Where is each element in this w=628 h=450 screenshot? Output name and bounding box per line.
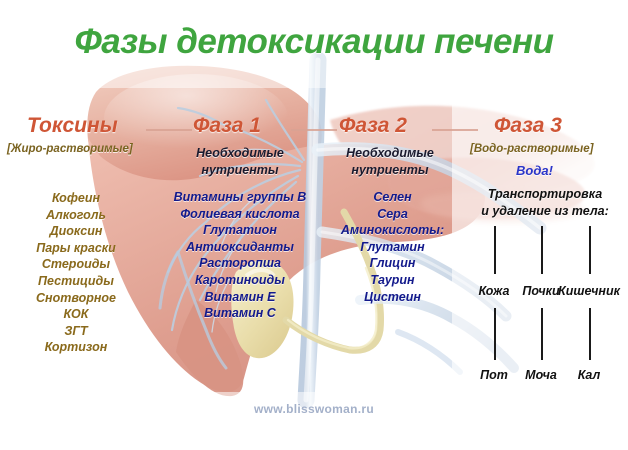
header-connector-2 <box>291 129 337 131</box>
list-item: Стероиды <box>0 256 152 273</box>
list-item: ЗГТ <box>0 323 152 340</box>
list-item: Глицин <box>325 255 460 272</box>
list-item: Глутатион <box>155 222 325 239</box>
phase3-intro-line1: Транспортировка <box>462 186 628 203</box>
organ-intestine: Кишечник <box>553 284 625 298</box>
column-header-phase1: Фаза 1 <box>193 114 261 138</box>
excreta-sweat: Пот <box>468 368 520 382</box>
phase3-intro-line2: и удаление из тела: <box>462 203 628 220</box>
list-item: КОК <box>0 306 152 323</box>
list-item: Аминокислоты: <box>325 222 460 239</box>
phase2-subhead: Необходимые нутриенты <box>320 145 460 179</box>
column-header-toxins: Токсины <box>27 114 118 138</box>
list-item: Витамин С <box>155 305 325 322</box>
column-header-phase3: Фаза 3 <box>494 114 562 138</box>
list-item: Фолиевая кислота <box>155 206 325 223</box>
phase1-list: Витамины группы В Фолиевая кислота Глута… <box>155 189 325 322</box>
flow-line-kidney-upper <box>541 226 543 274</box>
header-connector-3 <box>432 129 478 131</box>
phase1-subhead: Необходимые нутриенты <box>160 145 320 179</box>
toxins-list: Кофеин Алкоголь Диоксин Пары краски Стер… <box>0 190 152 356</box>
flow-line-urine-lower <box>541 308 543 360</box>
flow-line-sweat-lower <box>494 308 496 360</box>
watermark: www.blisswoman.ru <box>0 402 628 416</box>
list-item: Каротиноиды <box>155 272 325 289</box>
excreta-urine: Моча <box>514 368 568 382</box>
phase3-subtitle: [Водо-растворимые] <box>470 143 593 155</box>
flow-line-skin-upper <box>494 226 496 274</box>
infographic-canvas: Фазы детоксикации печени Токсины [Жиро-р… <box>0 0 628 450</box>
flow-line-intestine-upper <box>589 226 591 274</box>
column-header-phase2: Фаза 2 <box>339 114 407 138</box>
page-title: Фазы детоксикации печени <box>0 22 628 62</box>
excreta-feces: Кал <box>563 368 615 382</box>
toxins-subtitle: [Жиро-растворимые] <box>7 143 133 155</box>
list-item: Витамины группы В <box>155 189 325 206</box>
phase1-subhead-line2: нутриенты <box>160 162 320 179</box>
list-item: Глутамин <box>325 239 460 256</box>
phase2-subhead-line2: нутриенты <box>320 162 460 179</box>
list-item: Селен <box>325 189 460 206</box>
list-item: Алкоголь <box>0 207 152 224</box>
phase1-subhead-line1: Необходимые <box>160 145 320 162</box>
phase2-list: Селен Сера Аминокислоты: Глутамин Глицин… <box>325 189 460 305</box>
list-item: Кортизон <box>0 339 152 356</box>
list-item: Таурин <box>325 272 460 289</box>
list-item: Кофеин <box>0 190 152 207</box>
flow-line-feces-lower <box>589 308 591 360</box>
list-item: Пары краски <box>0 240 152 257</box>
list-item: Диоксин <box>0 223 152 240</box>
list-item: Сера <box>325 206 460 223</box>
header-connector-1 <box>146 129 192 131</box>
list-item: Пестициды <box>0 273 152 290</box>
phase3-water-note: Вода! <box>516 163 553 178</box>
phase3-intro: Транспортировка и удаление из тела: <box>462 186 628 220</box>
phase2-subhead-line1: Необходимые <box>320 145 460 162</box>
list-item: Снотворное <box>0 290 152 307</box>
list-item: Цистеин <box>325 289 460 306</box>
list-item: Витамин Е <box>155 289 325 306</box>
list-item: Антиоксиданты <box>155 239 325 256</box>
list-item: Расторопша <box>155 255 325 272</box>
